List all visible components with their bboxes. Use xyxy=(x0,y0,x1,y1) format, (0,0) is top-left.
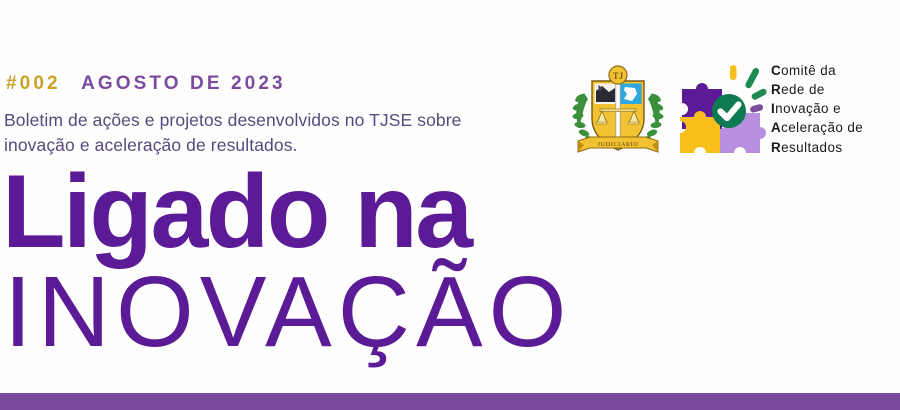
masthead-line-2: INOVAÇÃO xyxy=(4,262,572,362)
criar-puzzle-logo-icon xyxy=(672,59,772,159)
newsletter-subtitle: Boletim de ações e projetos desenvolvido… xyxy=(4,108,504,158)
criar-line-aceleracao: Aceleração de xyxy=(771,118,863,137)
criar-acronym-text: Comitê da Rede de Inovação e Aceleração … xyxy=(771,61,863,157)
coat-of-arms-ribbon-text: JUDICIARIO xyxy=(598,141,639,148)
issue-number: #002 xyxy=(6,73,61,94)
issue-line: #002 AGOSTO DE 2023 xyxy=(6,74,286,93)
criar-line-rede: Rede de xyxy=(771,80,863,99)
bottom-accent-bar xyxy=(0,393,900,410)
criar-line-resultados: Resultados xyxy=(771,138,863,157)
tjse-coat-of-arms-icon: TJ JUDICIARIO xyxy=(570,57,666,161)
logo-cluster: TJ JUDICIARIO Comitê da xyxy=(562,55,900,167)
newsletter-header-banner: #002 AGOSTO DE 2023 Boletim de ações e p… xyxy=(0,0,900,410)
masthead-line-1: Ligado na xyxy=(2,160,471,264)
criar-line-comite: Comitê da xyxy=(771,61,863,80)
criar-line-inovacao: Inovação e xyxy=(771,99,863,118)
issue-date: AGOSTO DE 2023 xyxy=(81,73,286,94)
svg-text:TJ: TJ xyxy=(613,71,624,81)
